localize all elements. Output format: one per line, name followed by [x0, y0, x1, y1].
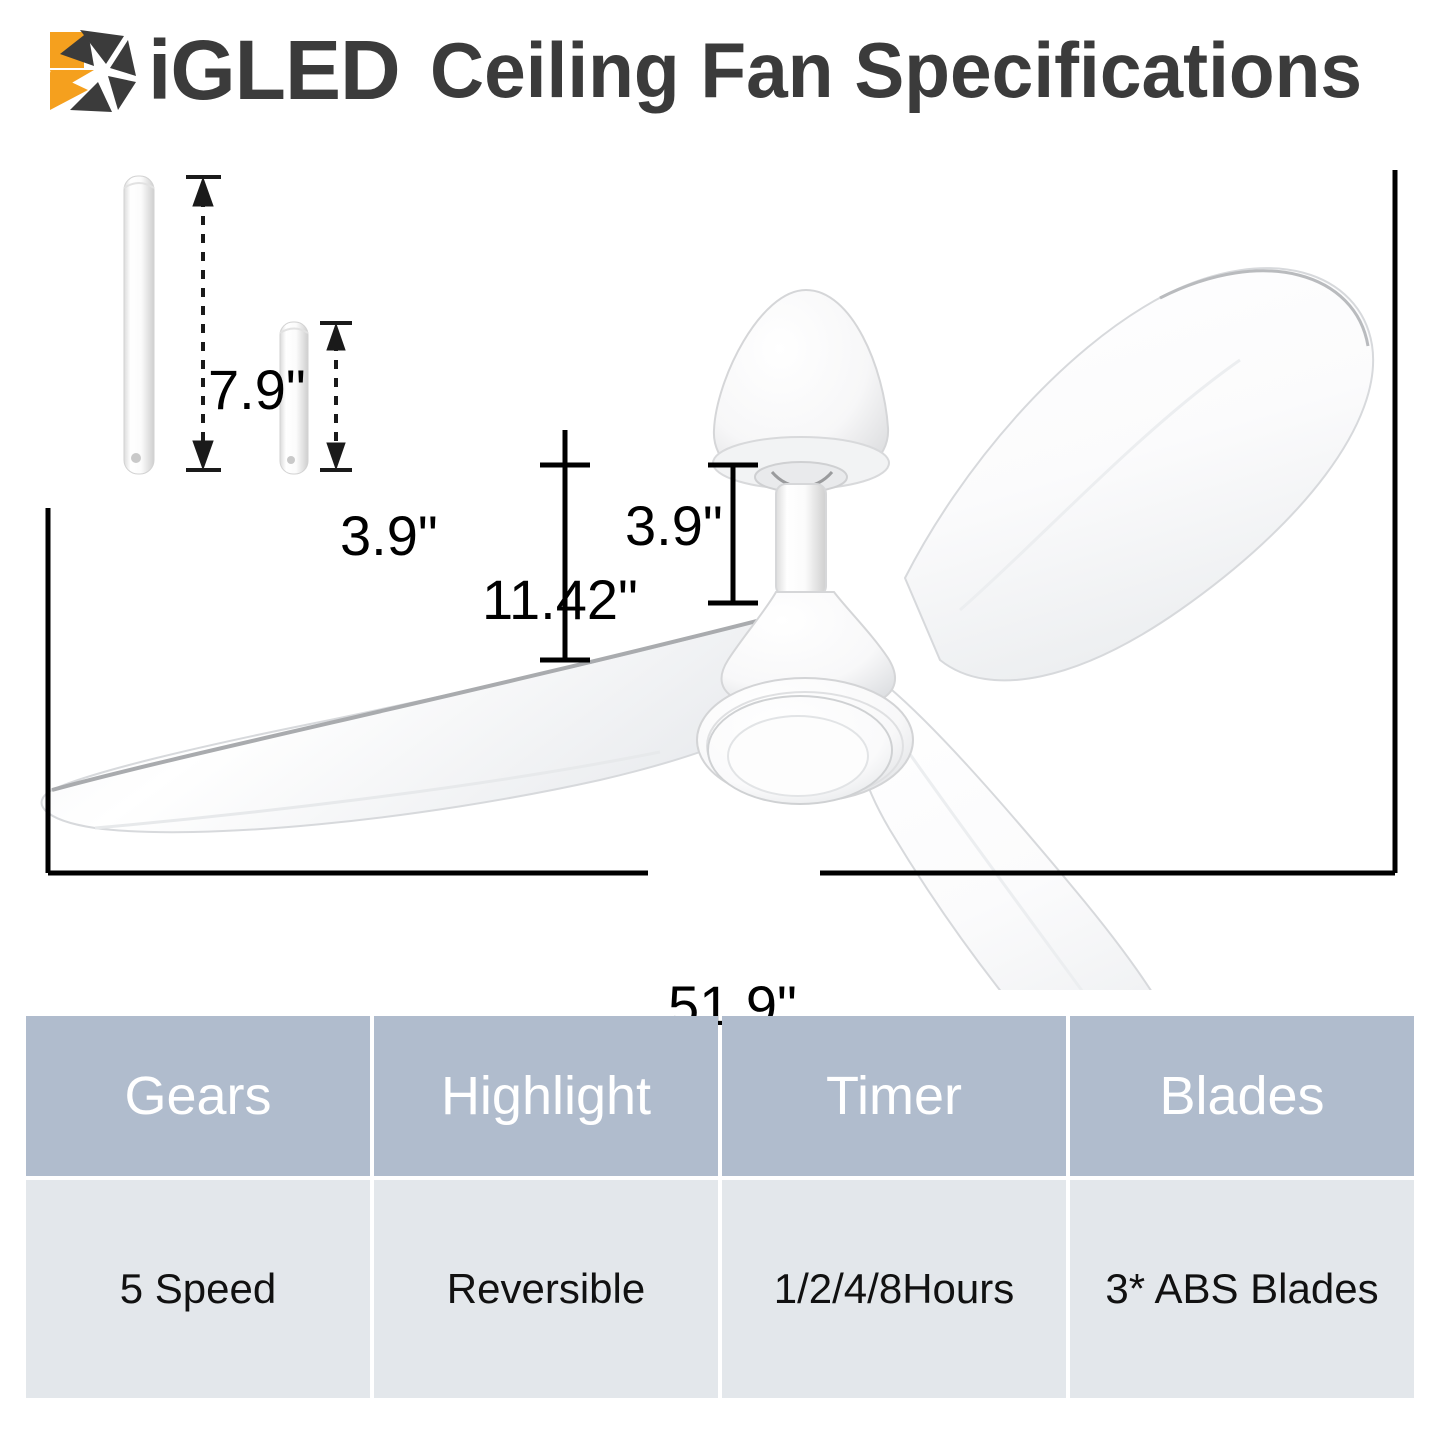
dimension-label-total-height: 11.42" [482, 572, 638, 628]
table-header-timer: Timer [722, 1016, 1066, 1176]
table-header-row: Gears Highlight Timer Blades [26, 1016, 1414, 1176]
product-spec-page: iGLED Ceiling Fan Specifications [0, 0, 1445, 1445]
dimension-label-canopy-height: 3.9" [625, 498, 723, 554]
dimension-label-downrod-short: 3.9" [340, 508, 438, 564]
light-lens [708, 696, 892, 804]
table-row: 5 Speed Reversible 1/2/4/8Hours 3* ABS B… [26, 1180, 1414, 1398]
ceiling-canopy [713, 290, 889, 492]
table-header-blades: Blades [1070, 1016, 1414, 1176]
dimension-line-3-9-rod [320, 323, 352, 470]
table-cell-gears: 5 Speed [26, 1180, 370, 1398]
table-cell-blades: 3* ABS Blades [1070, 1180, 1414, 1398]
table-header-gears: Gears [26, 1016, 370, 1176]
installed-downrod [776, 484, 826, 596]
fan-blade-upper-right [905, 268, 1373, 680]
dimension-label-downrod-long: 7.9" [208, 362, 306, 418]
specifications-table: Gears Highlight Timer Blades 5 Speed Rev… [22, 1012, 1418, 1402]
page-title: Ceiling Fan Specifications [430, 31, 1362, 109]
table-cell-timer: 1/2/4/8Hours [722, 1180, 1066, 1398]
brand-wordmark: iGLED [148, 28, 400, 112]
digled-logo-icon [36, 24, 152, 116]
fan-dimension-diagram: 7.9" 3.9" 3.9" 11.42" 51.9" [0, 140, 1445, 990]
fan-illustration [0, 140, 1445, 990]
page-header: iGLED Ceiling Fan Specifications [0, 0, 1445, 140]
table-header-highlight: Highlight [374, 1016, 718, 1176]
fan-blade-left [42, 610, 812, 832]
table-cell-highlight: Reversible [374, 1180, 718, 1398]
dimension-line-7-9 [186, 177, 221, 470]
downrod-long-illustration [124, 176, 154, 474]
